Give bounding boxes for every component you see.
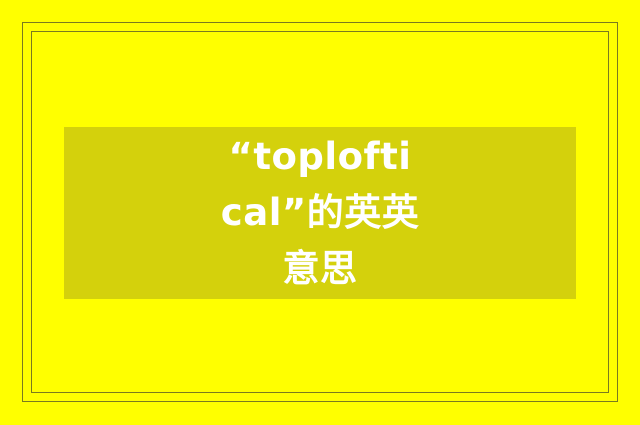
page-title: “toplofti cal”的英英意思 <box>218 129 423 298</box>
title-banner: “toplofti cal”的英英意思 <box>64 127 576 299</box>
poster-canvas: “toplofti cal”的英英意思 <box>0 0 640 425</box>
